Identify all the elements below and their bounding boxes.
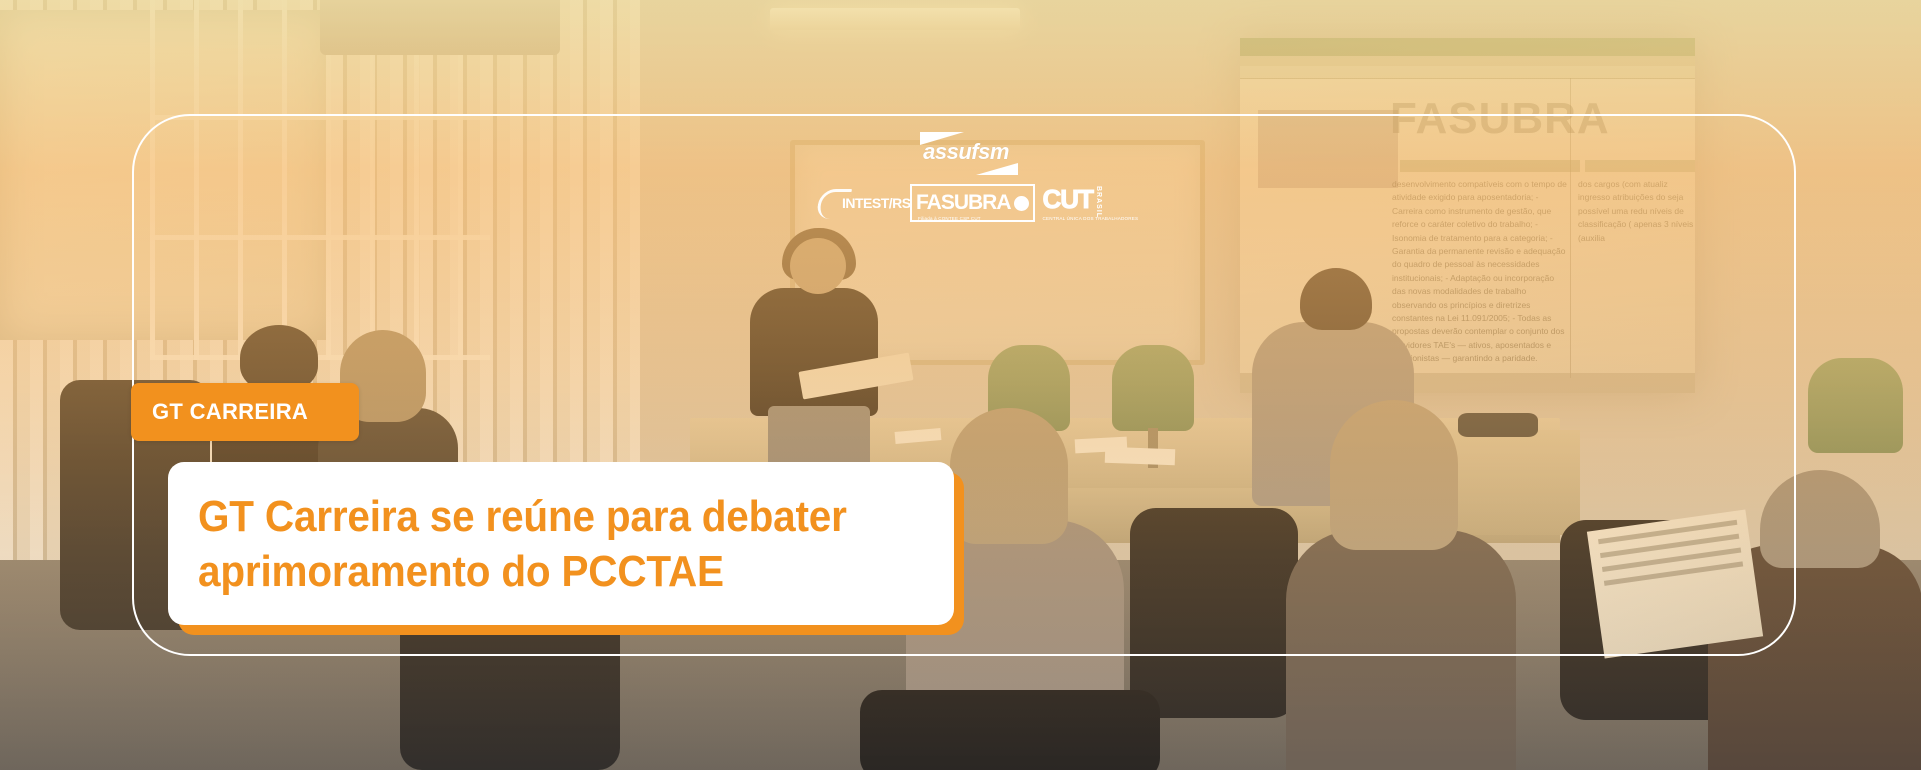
category-badge[interactable]: GT CARREIRA bbox=[131, 383, 359, 441]
headline-card-wrapper: GT Carreira se reúne para debater aprimo… bbox=[168, 462, 964, 635]
article-hero-banner: FASUBRA desenvolvimento compatíveis com … bbox=[0, 0, 1921, 770]
assufsm-logo: assufsm bbox=[906, 126, 1026, 178]
assufsm-bottom-triangle-icon bbox=[976, 163, 1018, 175]
fasubra-logo: FASUBRA Filiada à CONTEE CSP CUT bbox=[910, 184, 1035, 222]
fasubra-dot-icon bbox=[1014, 196, 1029, 211]
cut-brasil-label: BRASIL bbox=[1095, 186, 1102, 218]
union-logo-cluster: assufsm INTEST/RS FASUBRA Filiada à CONT… bbox=[818, 126, 1103, 221]
partner-logo-row: INTEST/RS FASUBRA Filiada à CONTEE CSP C… bbox=[818, 184, 1102, 222]
cut-tagline: CENTRAL ÚNICA DOS TRABALHADORES bbox=[1043, 216, 1139, 221]
page-title: GT Carreira se reúne para debater aprimo… bbox=[198, 489, 847, 599]
assufsm-top-triangle-icon bbox=[920, 132, 964, 145]
fasubra-subtitle: Filiada à CONTEE CSP CUT bbox=[918, 216, 981, 221]
headline-card[interactable]: GT Carreira se reúne para debater aprimo… bbox=[168, 462, 954, 625]
fasubra-wordmark: FASUBRA bbox=[916, 191, 1011, 215]
cut-logo: CUT BRASIL CENTRAL ÚNICA DOS TRABALHADOR… bbox=[1043, 186, 1102, 220]
sintest-swoosh-icon bbox=[815, 189, 852, 219]
sintest-wordmark: INTEST/RS bbox=[842, 195, 911, 211]
sintest-rs-logo: INTEST/RS bbox=[818, 188, 902, 218]
category-badge-label: GT CARREIRA bbox=[152, 399, 308, 425]
cut-wordmark: CUT bbox=[1043, 186, 1093, 212]
